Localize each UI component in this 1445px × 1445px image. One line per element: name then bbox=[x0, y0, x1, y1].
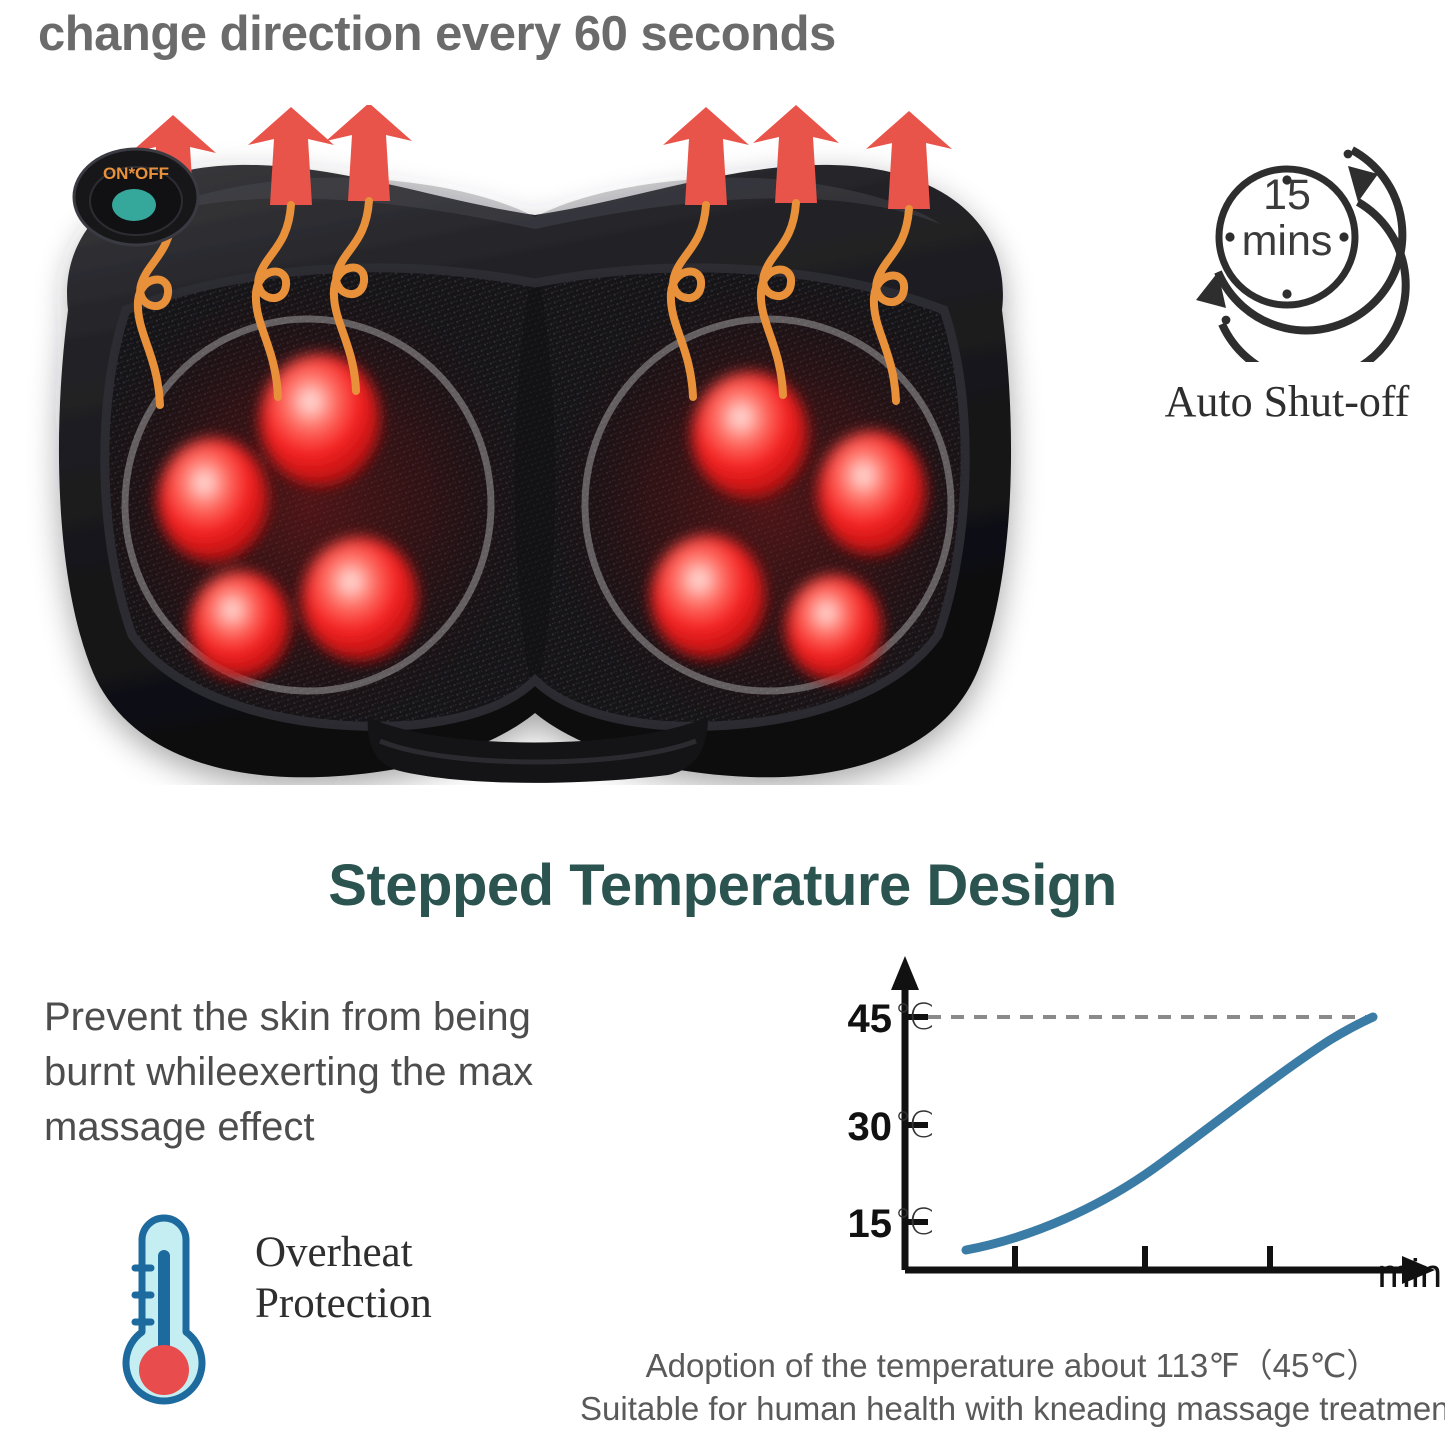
section-heading: Stepped Temperature Design bbox=[0, 852, 1445, 919]
benefit-description: Prevent the skin from being burnt whilee… bbox=[44, 990, 629, 1156]
massage-pillow-illustration: ON*OFF bbox=[8, 105, 1063, 785]
y-tick-labels: 45 ℃ 30 ℃ 15 ℃ bbox=[848, 996, 935, 1246]
auto-shutoff-minutes-value: 15 bbox=[1162, 174, 1412, 217]
temperature-chart: 45 ℃ 30 ℃ 15 ℃ min bbox=[770, 950, 1445, 1310]
svg-text:30: 30 bbox=[848, 1105, 893, 1149]
svg-text:℃: ℃ bbox=[894, 1201, 934, 1242]
product-image: ON*OFF bbox=[8, 105, 1063, 785]
auto-shutoff-block: 15 mins Auto Shut-off bbox=[1128, 112, 1445, 427]
page-header-text: change direction every 60 seconds bbox=[38, 6, 1038, 62]
overheat-label-line1: Overheat bbox=[255, 1228, 565, 1279]
svg-text:℃: ℃ bbox=[894, 1104, 934, 1145]
thermometer-icon bbox=[95, 1210, 245, 1425]
overheat-protection-block: Overheat Protection bbox=[95, 1210, 565, 1425]
heat-node bbox=[158, 438, 268, 562]
x-axis-label: min bbox=[1378, 1252, 1442, 1296]
x-tick-group bbox=[1015, 1246, 1270, 1270]
power-button[interactable]: ON*OFF bbox=[74, 149, 198, 245]
auto-shutoff-label: Auto Shut-off bbox=[1128, 376, 1445, 427]
heat-node bbox=[786, 575, 882, 681]
temperature-curve bbox=[966, 1017, 1373, 1250]
chart-caption-line2: Suitable for human health with kneading … bbox=[580, 1388, 1445, 1431]
svg-text:15: 15 bbox=[848, 1202, 893, 1246]
heat-node bbox=[692, 372, 808, 498]
heat-node bbox=[190, 571, 290, 679]
svg-text:45: 45 bbox=[848, 997, 893, 1041]
chart-caption-line1: Adoption of the temperature about 113℉（4… bbox=[580, 1345, 1445, 1388]
y-axis-arrowhead bbox=[891, 956, 919, 990]
heat-node bbox=[818, 431, 926, 555]
chart-caption: Adoption of the temperature about 113℉（4… bbox=[580, 1345, 1445, 1431]
power-button-label: ON*OFF bbox=[103, 164, 169, 183]
svg-text:℃: ℃ bbox=[894, 996, 934, 1037]
heat-node bbox=[302, 537, 418, 661]
overheat-label-line2: Protection bbox=[255, 1279, 565, 1330]
power-indicator-light bbox=[112, 189, 156, 221]
auto-shutoff-timer-icon: 15 mins bbox=[1162, 112, 1412, 362]
overheat-protection-label: Overheat Protection bbox=[255, 1228, 565, 1329]
temperature-curve-plot: 45 ℃ 30 ℃ 15 ℃ min bbox=[770, 950, 1445, 1310]
auto-shutoff-minutes-unit: mins bbox=[1162, 220, 1412, 263]
heat-node bbox=[651, 535, 765, 659]
